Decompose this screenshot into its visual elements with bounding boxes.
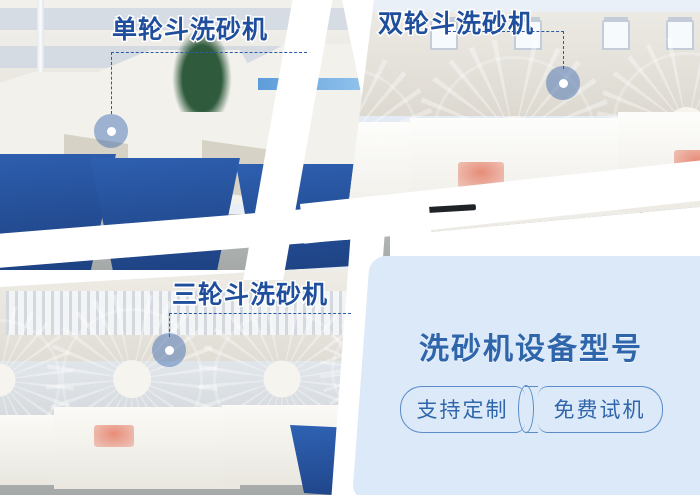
card-title: 洗砂机设备型号: [419, 324, 643, 368]
badge-custom-support[interactable]: 支持定制: [400, 386, 525, 433]
dashed-leader-line-icon: [111, 52, 112, 114]
panel-title-triple-wheel: 三轮斗洗砂机: [172, 275, 328, 311]
target-dot-icon: [546, 66, 580, 100]
badge-free-trial[interactable]: 免费试机: [538, 386, 663, 433]
dashed-leader-line-icon: [111, 52, 307, 53]
dashed-leader-line-icon: [448, 31, 564, 32]
panel-title-double-wheel: 双轮斗洗砂机: [378, 4, 534, 40]
dashed-leader-line-icon: [563, 31, 564, 69]
target-dot-icon: [152, 333, 186, 367]
collage-stage: 洗砂机设备型号 支持定制 免费试机 单轮斗洗砂机 双轮斗洗砂机 三轮斗洗砂机: [0, 0, 700, 495]
dashed-leader-line-icon: [169, 313, 351, 314]
washer-tank: [54, 407, 240, 489]
brand-logo: [94, 425, 134, 447]
wheel-hub: [113, 360, 151, 398]
building-window: [602, 20, 630, 50]
target-dot-icon: [94, 114, 128, 148]
wheel-hub: [264, 361, 301, 398]
badge-separator-icon: [525, 386, 538, 433]
info-card-content: 洗砂机设备型号 支持定制 免费试机: [352, 256, 700, 495]
card-badges: 支持定制 免费试机: [400, 386, 663, 433]
panel-title-single-wheel: 单轮斗洗砂机: [112, 10, 268, 46]
